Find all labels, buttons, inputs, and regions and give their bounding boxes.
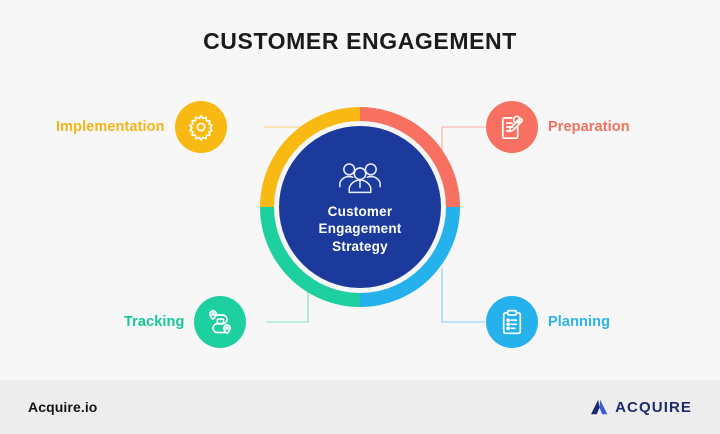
implementation-bubble [175,101,227,153]
clipboard-checklist-icon [498,308,526,336]
node-implementation[interactable]: Implementation [56,101,227,153]
footer-brand-text: Acquire.io [28,399,97,415]
preparation-bubble [486,101,538,153]
donut-center: Customer Engagement Strategy [279,126,441,288]
page-title: CUSTOMER ENGAGEMENT [0,28,720,55]
donut-center-label: Customer Engagement Strategy [318,203,401,255]
planning-label: Planning [548,314,610,330]
donut-chart: Customer Engagement Strategy [260,107,460,307]
acquire-logo[interactable]: ACQUIRE [589,399,692,416]
footer-bar: Acquire.io ACQUIRE [0,380,720,434]
clipboard-pen-icon [498,113,526,141]
planning-bubble [486,296,538,348]
preparation-label: Preparation [548,119,630,135]
acquire-logo-text: ACQUIRE [615,399,692,416]
node-planning[interactable]: Planning [486,296,610,348]
implementation-label: Implementation [56,119,165,135]
tracking-label: Tracking [124,314,184,330]
acquire-triangle-logo-icon [589,399,609,415]
tracking-bubble [194,296,246,348]
node-tracking[interactable]: Tracking [124,296,246,348]
route-tracking-icon [206,308,234,336]
gear-icon [187,113,215,141]
node-preparation[interactable]: Preparation [486,101,630,153]
people-group-icon [337,159,383,197]
infographic-slide: CUSTOMER ENGAGEMENT [0,0,720,434]
